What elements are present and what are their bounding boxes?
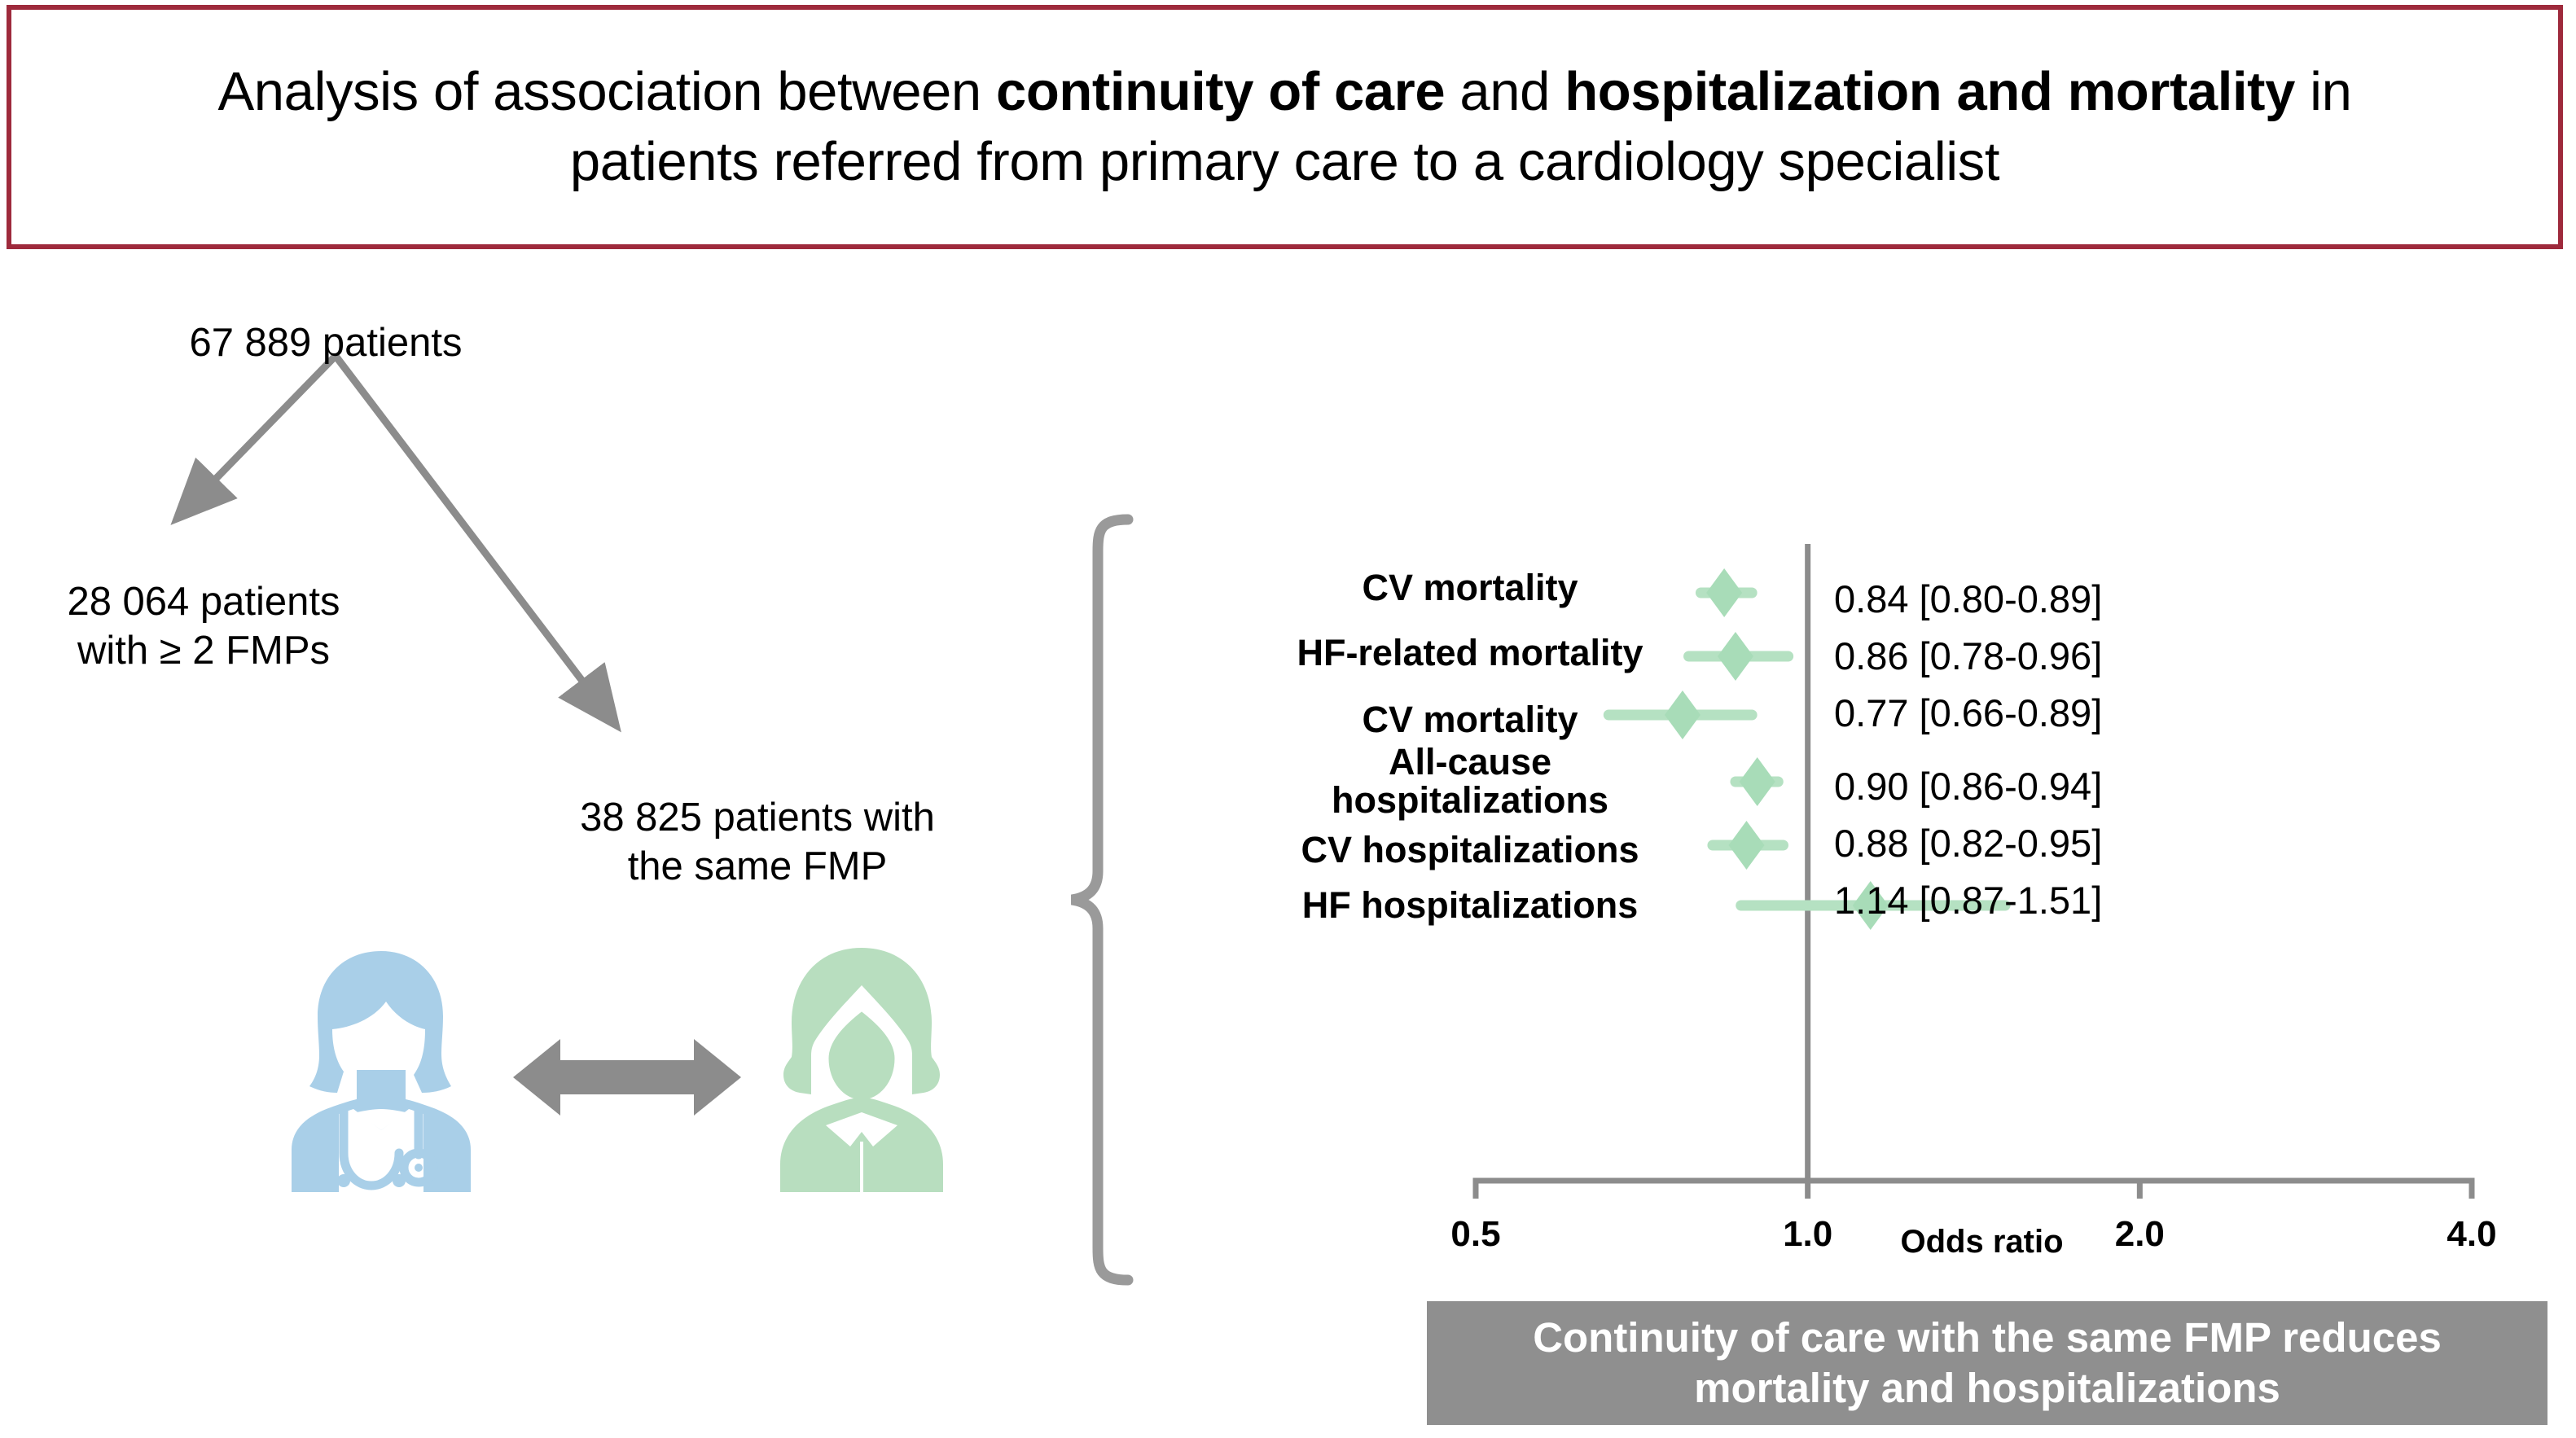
x-axis-tick-label: 1.0: [1783, 1214, 1832, 1254]
flow-same-fmp-line2: the same FMP: [521, 843, 994, 892]
conclusion-banner: Continuity of care with the same FMP red…: [1427, 1301, 2547, 1425]
flow-multiple-fmp-group: 28 064 patients with ≥ 2 FMPs: [16, 578, 391, 676]
double-headed-arrow-icon: [513, 1032, 741, 1122]
conclusion-line2: mortality and hospitalizations: [1482, 1363, 2492, 1414]
flow-arrows: [0, 293, 1026, 831]
title-plain: Analysis of association between: [217, 61, 996, 122]
x-axis-tick-label: 2.0: [2115, 1214, 2165, 1254]
forest-row-value: 0.88 [0.82-0.95]: [1834, 821, 2102, 866]
forest-plot-canvas: 0.51.02.04.0Odds ratio: [1051, 505, 2576, 1287]
forest-row-value: 1.14 [0.87-1.51]: [1834, 878, 2102, 923]
point-estimate-diamond: [1740, 757, 1775, 806]
forest-row-marker: [1736, 757, 1778, 806]
forest-row-marker: [1689, 632, 1788, 681]
forest-row-value: 0.86 [0.78-0.96]: [1834, 634, 2102, 678]
point-estimate-diamond: [1728, 821, 1764, 870]
forest-row-marker: [1608, 691, 1752, 739]
page-title: Analysis of association between continui…: [186, 57, 2385, 197]
flow-multiple-fmp-line2: with ≥ 2 FMPs: [16, 627, 391, 676]
point-estimate-diamond: [1706, 568, 1742, 617]
flow-multiple-fmp-line1: 28 064 patients: [16, 578, 391, 627]
forest-row-marker: [1713, 821, 1784, 870]
title-emphasis: continuity of care: [996, 61, 1445, 122]
point-estimate-diamond: [1665, 691, 1701, 739]
x-axis-title: Odds ratio: [1900, 1224, 2063, 1260]
flow-total-patients: 67 889 patients: [147, 319, 505, 368]
conclusion-line1: Continuity of care with the same FMP red…: [1482, 1313, 2492, 1363]
title-plain: and: [1445, 61, 1564, 122]
forest-row-marker: [1701, 568, 1752, 617]
forest-row-value: 0.90 [0.86-0.94]: [1834, 764, 2102, 809]
forest-row-value: 0.77 [0.66-0.89]: [1834, 691, 2102, 735]
x-axis-tick-label: 0.5: [1450, 1214, 1500, 1254]
forest-row-value: 0.84 [0.80-0.89]: [1834, 577, 2102, 621]
flow-same-fmp-group: 38 825 patients with the same FMP: [521, 794, 994, 892]
x-axis-tick-label: 4.0: [2447, 1214, 2496, 1254]
conclusion-text: Continuity of care with the same FMP red…: [1482, 1313, 2492, 1414]
title-emphasis: hospitalization and mortality: [1564, 61, 2295, 122]
title-banner: Analysis of association between continui…: [7, 5, 2563, 249]
female-doctor-icon: [259, 936, 503, 1197]
flow-same-fmp-line1: 38 825 patients with: [521, 794, 994, 843]
x-axis-line: [1476, 1181, 2472, 1199]
point-estimate-diamond: [1718, 632, 1753, 681]
forest-plot: CV mortality HF-related mortality CV mor…: [1051, 505, 2576, 1287]
female-patient-icon: [748, 936, 976, 1197]
